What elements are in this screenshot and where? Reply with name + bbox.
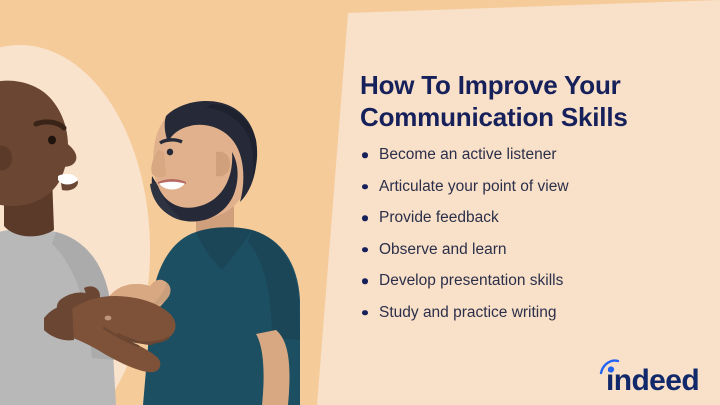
slide-canvas: How To Improve Your Communication Skills… — [0, 0, 720, 405]
two-people-conversing-illustration — [0, 0, 360, 405]
list-item: Provide feedback — [360, 210, 690, 226]
list-item-label: Articulate your point of view — [379, 178, 569, 195]
list-item: Articulate your point of view — [360, 179, 690, 195]
indeed-wordmark: indeed — [606, 364, 699, 397]
tips-list: Become an active listener Articulate you… — [360, 147, 690, 320]
indeed-i-dot-icon — [608, 366, 614, 372]
list-item: Observe and learn — [360, 242, 690, 258]
page-title: How To Improve Your Communication Skills — [360, 70, 690, 133]
right-person-eye — [167, 149, 173, 156]
list-item-label: Develop presentation skills — [379, 272, 563, 289]
bullet-dot-icon — [362, 278, 368, 284]
bullet-dot-icon — [362, 247, 368, 253]
left-person-eye — [48, 136, 56, 145]
list-item-label: Become an active listener — [379, 146, 556, 163]
list-item-label: Study and practice writing — [379, 304, 556, 321]
bullet-dot-icon — [362, 184, 368, 190]
list-item-label: Observe and learn — [379, 241, 507, 258]
list-item: Become an active listener — [360, 147, 690, 163]
bullet-dot-icon — [362, 310, 368, 316]
bullet-dot-icon — [362, 152, 368, 158]
indeed-logo: indeed — [598, 357, 706, 397]
slide-content: How To Improve Your Communication Skills… — [360, 70, 690, 320]
list-item-label: Provide feedback — [379, 209, 499, 226]
list-item: Study and practice writing — [360, 305, 690, 321]
left-person-palm-highlight — [105, 316, 112, 321]
list-item: Develop presentation skills — [360, 273, 690, 289]
bullet-dot-icon — [362, 215, 368, 221]
